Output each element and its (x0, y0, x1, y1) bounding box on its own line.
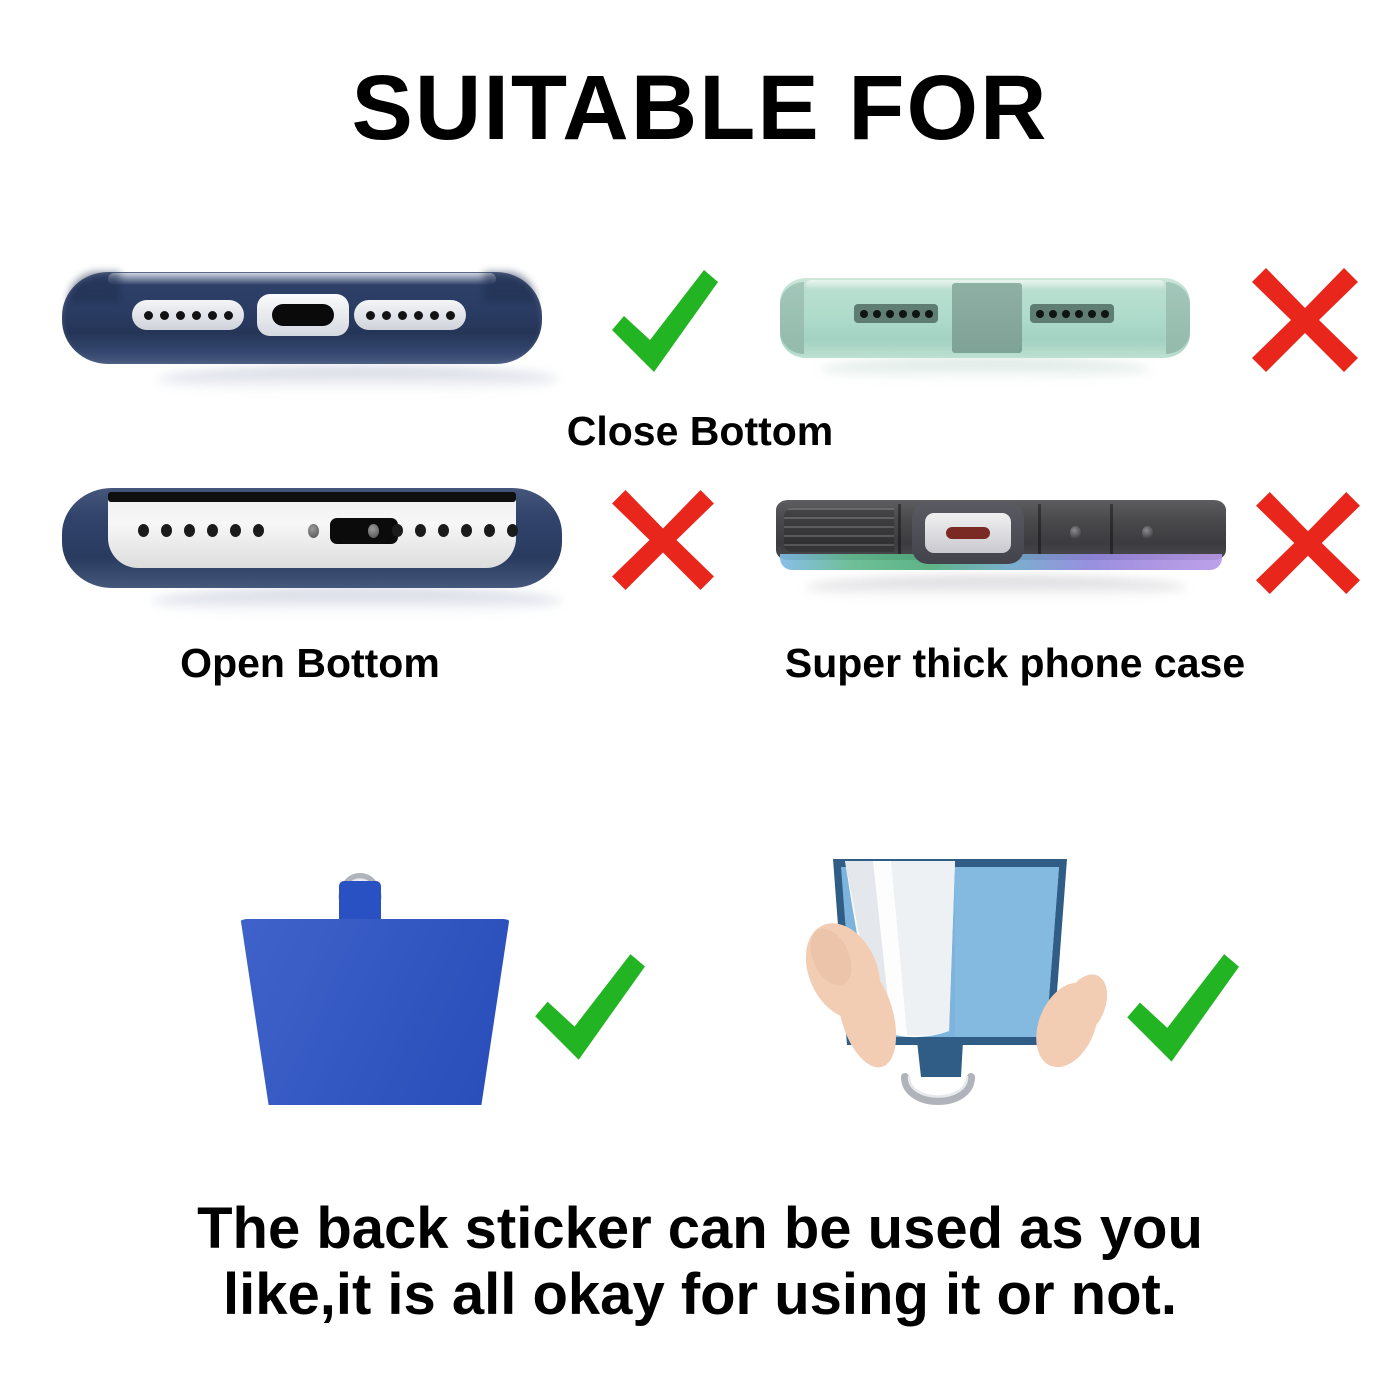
closed-port-cover (952, 283, 1022, 353)
speaker-grille-right (354, 300, 466, 330)
peel-backing-image (795, 845, 1125, 1135)
case-grip-ribs (784, 508, 894, 552)
case-screw-dot (1142, 526, 1153, 539)
check-mark-icon (604, 268, 722, 380)
case-screw-dot (1070, 526, 1081, 539)
speaker-grille-left (132, 300, 244, 330)
check-mark-icon (1116, 952, 1246, 1070)
tab-pad-shading (235, 919, 515, 1105)
caption-super-thick-case: Super thick phone case (730, 640, 1300, 687)
phone-reflection (820, 358, 1150, 380)
phone-image-open-port-case (62, 272, 542, 364)
phone-image-open-bottom-case (62, 488, 562, 588)
screw-left (308, 524, 319, 538)
speaker-grille-left (138, 524, 264, 537)
phone-image-super-thick-case (776, 500, 1226, 576)
charging-port (912, 502, 1024, 564)
case-shoulder-left (68, 272, 120, 302)
charging-port (330, 518, 398, 544)
cross-mark-icon (1256, 492, 1360, 594)
footnote-text: The back sticker can be used as you like… (0, 1196, 1400, 1328)
cross-mark-icon (612, 490, 714, 590)
charging-port (257, 294, 349, 336)
check-mark-icon (524, 952, 652, 1068)
case-seam (1110, 504, 1113, 556)
case-shoulder-right (484, 272, 536, 302)
case-rail-left (780, 282, 804, 354)
speaker-grille-left (854, 304, 938, 323)
footnote-line-2: like,it is all okay for using it or not. (0, 1262, 1400, 1328)
phone-edge-strip (108, 492, 516, 502)
case-top-edge (108, 273, 496, 285)
phone-reflection (158, 366, 558, 392)
screw-right (368, 524, 379, 538)
case-seam (898, 504, 901, 556)
caption-close-bottom: Close Bottom (0, 408, 1400, 455)
case-seam (1038, 504, 1041, 556)
phone-reflection (152, 588, 562, 614)
speaker-grille-right (392, 524, 518, 537)
phone-reflection (806, 576, 1186, 598)
caption-open-bottom: Open Bottom (60, 640, 560, 687)
phone-image-close-bottom-case (780, 278, 1190, 358)
page-title: SUITABLE FOR (0, 62, 1400, 154)
speaker-grille-right (1030, 304, 1114, 323)
lanyard-tab-image (235, 855, 515, 1110)
footnote-line-1: The back sticker can be used as you (0, 1196, 1400, 1262)
cross-mark-icon (1252, 268, 1358, 372)
